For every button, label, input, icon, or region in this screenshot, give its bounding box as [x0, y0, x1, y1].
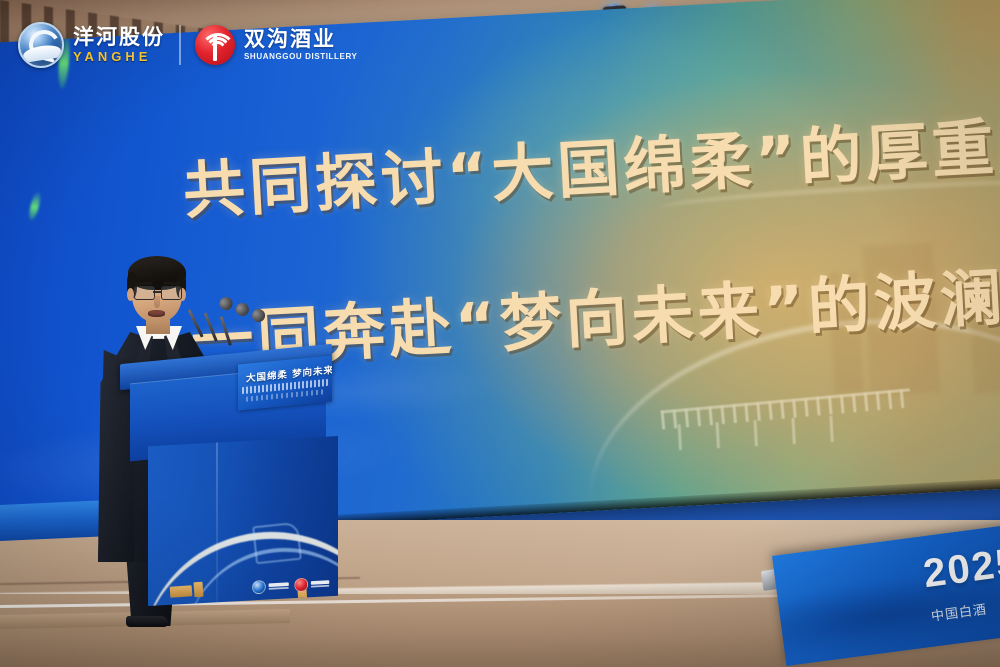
- podium-body: [148, 436, 338, 606]
- podium-shuanggou-logo-icon: [294, 576, 329, 592]
- shuanggou-english-name: SHUANGGOU DISTILLERY: [244, 53, 357, 61]
- shuanggou-emblem-icon: [195, 25, 235, 65]
- yanghe-chinese-name: 洋河股份: [73, 27, 165, 48]
- podium-bottle-glyph-icon: [252, 522, 302, 565]
- yanghe-emblem-icon: [18, 22, 64, 68]
- logo-divider: [179, 25, 181, 65]
- shuanggou-logo: 双沟酒业 SHUANGGOU DISTILLERY: [195, 25, 357, 65]
- green-laser-beam: [27, 190, 42, 221]
- shuanggou-chinese-name: 双沟酒业: [244, 29, 357, 50]
- sign-year-text: 2025: [921, 540, 1000, 597]
- podium-gold-accent: [193, 582, 203, 598]
- podium-lectern: 大国绵柔 梦向未来: [120, 330, 350, 630]
- speaker-nose: [154, 296, 160, 308]
- speaker-mouth: [148, 310, 165, 317]
- photo-scene: 共同探讨“大国绵柔”的厚重底蕴 一同奔赴“梦向未来”的波澜征程: [0, 0, 1000, 667]
- yanghe-logo: 洋河股份 YANGHE: [18, 22, 165, 68]
- podium-gold-accent: [170, 585, 193, 598]
- led-architecture-motif: [628, 156, 1000, 508]
- podium-yanghe-logo-icon: [252, 578, 289, 594]
- brand-logo-bar: 洋河股份 YANGHE 双沟酒业 SHUANGGOU DISTILLERY: [18, 22, 357, 68]
- speaker-ear: [127, 288, 134, 301]
- podium-event-sign: 大国绵柔 梦向未来: [238, 355, 332, 410]
- yanghe-english-name: YANGHE: [73, 50, 165, 63]
